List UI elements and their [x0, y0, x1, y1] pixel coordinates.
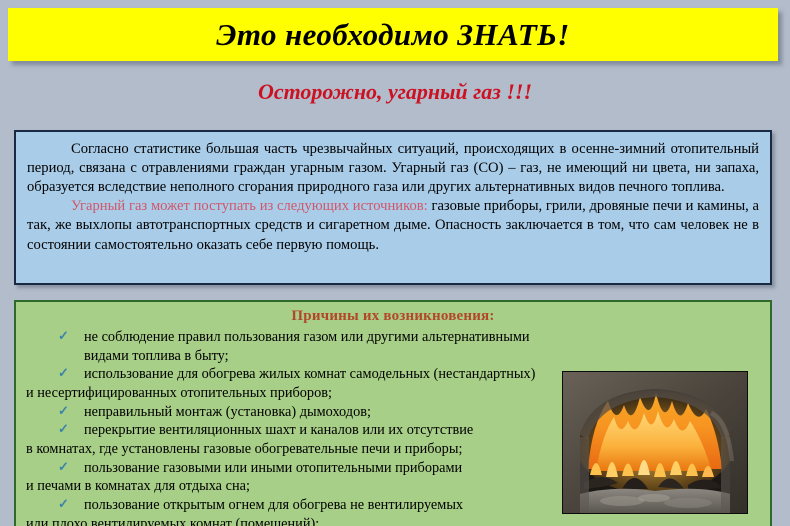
info-paragraph-2: Угарный газ может поступать из следующих… — [27, 197, 759, 254]
info-panel: Согласно статистике большая часть чрезвы… — [14, 130, 772, 285]
list-item-label: перекрытие вентиляционных шахт и каналов… — [84, 422, 473, 438]
list-item: ✓ пользование открытым огнем для обогрев… — [26, 496, 574, 515]
info-highlight: Угарный газ может поступать из следующих… — [71, 198, 428, 214]
list-item-continuation: и несертифицированных отопительных прибо… — [26, 384, 574, 403]
list-item-continuation: и печами в комнатах для отдыха сна; — [26, 477, 574, 496]
check-icon: ✓ — [58, 365, 69, 382]
causes-heading: Причины их возникновения: — [26, 308, 760, 325]
list-item: ✓ перекрытие вентиляционных шахт и канал… — [26, 421, 574, 440]
list-item-label: пользование газовыми или иными отопитель… — [84, 460, 462, 476]
list-item-label: не соблюдение правил пользования газом и… — [84, 329, 530, 364]
check-icon: ✓ — [58, 496, 69, 513]
list-item-label: неправильный монтаж (установка) дымоходо… — [84, 404, 371, 420]
poster-page: Это необходимо ЗНАТЬ! Осторожно, угарный… — [0, 0, 790, 526]
list-item-label: пользование открытым огнем для обогрева … — [84, 497, 463, 513]
page-title: Это необходимо ЗНАТЬ! — [216, 19, 569, 50]
check-icon: ✓ — [58, 421, 69, 438]
list-item: ✓ пользование газовыми или иными отопите… — [26, 459, 574, 478]
list-item: ✓ использование для обогрева жилых комна… — [26, 365, 574, 384]
list-item-label: использование для обогрева жилых комнат … — [84, 366, 535, 382]
warning-subtitle: Осторожно, угарный газ !!! — [0, 79, 790, 105]
title-banner: Это необходимо ЗНАТЬ! — [8, 8, 778, 61]
check-icon: ✓ — [58, 403, 69, 420]
check-icon: ✓ — [58, 328, 69, 345]
check-icon: ✓ — [58, 459, 69, 476]
causes-list: ✓ не соблюдение правил пользования газом… — [26, 328, 574, 526]
list-item-continuation: или плохо вентилируемых комнат (помещени… — [26, 515, 574, 526]
list-item: ✓ не соблюдение правил пользования газом… — [26, 328, 574, 365]
fire-photo — [562, 371, 748, 514]
info-paragraph-1: Согласно статистике большая часть чрезвы… — [27, 140, 759, 197]
list-item: ✓ неправильный монтаж (установка) дымохо… — [26, 403, 574, 422]
list-item-continuation: в комнатах, где установлены газовые обог… — [26, 440, 574, 459]
